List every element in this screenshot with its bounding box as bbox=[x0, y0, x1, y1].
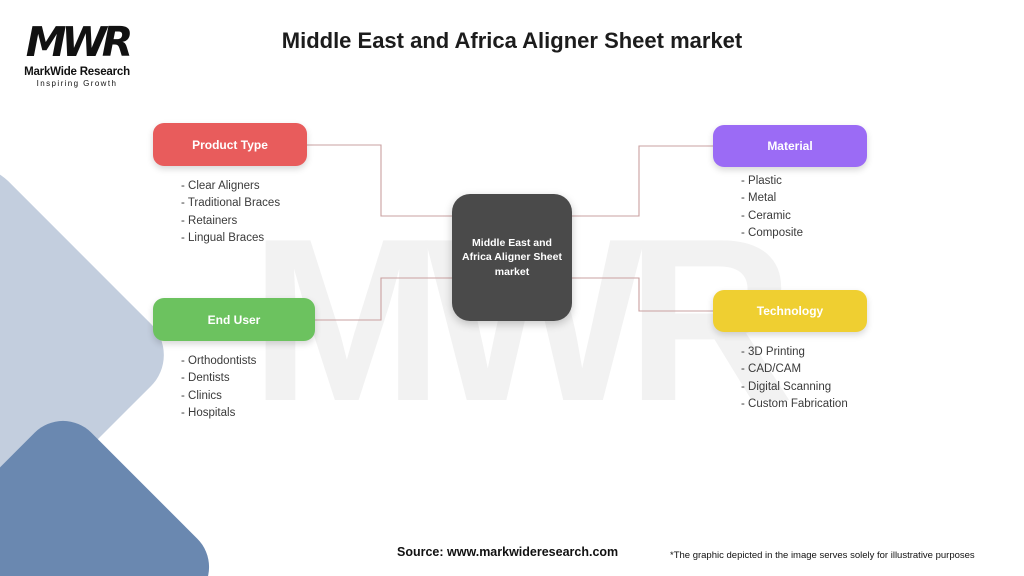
list-item: - Dentists bbox=[181, 370, 256, 387]
node-technology[interactable]: Technology bbox=[713, 290, 867, 332]
page-title: Middle East and Africa Aligner Sheet mar… bbox=[0, 28, 1024, 54]
node-technology-label: Technology bbox=[757, 304, 823, 318]
items-end-user: - Orthodontists - Dentists - Clinics - H… bbox=[181, 353, 256, 423]
logo-tagline: Inspiring Growth bbox=[18, 79, 136, 88]
connector-material bbox=[572, 146, 713, 216]
items-product-type: - Clear Aligners - Traditional Braces - … bbox=[181, 178, 280, 248]
node-material[interactable]: Material bbox=[713, 125, 867, 167]
node-end-user-label: End User bbox=[208, 313, 261, 327]
logo-company-name: MarkWide Research bbox=[18, 66, 136, 78]
node-product-type-label: Product Type bbox=[192, 138, 268, 152]
node-end-user[interactable]: End User bbox=[153, 298, 315, 341]
list-item: - Clear Aligners bbox=[181, 178, 280, 195]
list-item: - Lingual Braces bbox=[181, 230, 280, 247]
list-item: - Clinics bbox=[181, 388, 256, 405]
items-technology: - 3D Printing - CAD/CAM - Digital Scanni… bbox=[741, 344, 848, 414]
list-item: - Retainers bbox=[181, 213, 280, 230]
list-item: - Custom Fabrication bbox=[741, 396, 848, 413]
list-item: - Plastic bbox=[741, 173, 803, 190]
connector-product-type bbox=[307, 145, 452, 216]
center-node: Middle East and Africa Aligner Sheet mar… bbox=[452, 194, 572, 321]
center-node-label: Middle East and Africa Aligner Sheet mar… bbox=[452, 236, 572, 279]
list-item: - Orthodontists bbox=[181, 353, 256, 370]
list-item: - Ceramic bbox=[741, 208, 803, 225]
list-item: - Composite bbox=[741, 225, 803, 242]
list-item: - CAD/CAM bbox=[741, 361, 848, 378]
node-product-type[interactable]: Product Type bbox=[153, 123, 307, 166]
source-text: Source: www.markwideresearch.com bbox=[397, 545, 618, 559]
disclaimer-text: *The graphic depicted in the image serve… bbox=[670, 550, 975, 561]
connector-end-user bbox=[315, 278, 452, 320]
list-item: - Digital Scanning bbox=[741, 379, 848, 396]
list-item: - Hospitals bbox=[181, 405, 256, 422]
node-material-label: Material bbox=[767, 139, 812, 153]
list-item: - 3D Printing bbox=[741, 344, 848, 361]
connector-technology bbox=[572, 278, 713, 311]
list-item: - Traditional Braces bbox=[181, 195, 280, 212]
items-material: - Plastic - Metal - Ceramic - Composite bbox=[741, 173, 803, 243]
list-item: - Metal bbox=[741, 190, 803, 207]
